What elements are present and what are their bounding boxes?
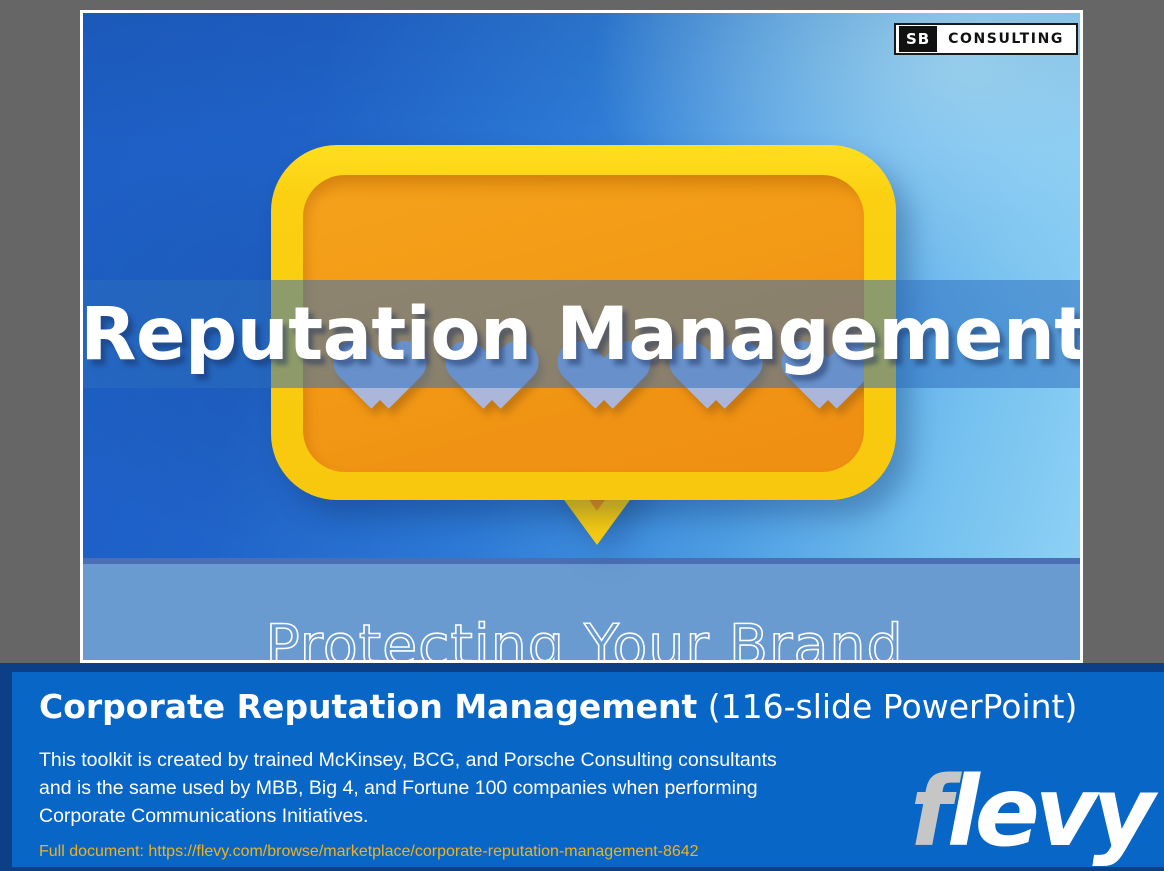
sb-consulting-logo: SB CONSULTING [894,23,1078,55]
banner-title: Corporate Reputation Management (116-sli… [39,686,1164,728]
screenshot-canvas: Reputation Management Protecting Your Br… [0,0,1164,871]
slide-preview[interactable]: Reputation Management Protecting Your Br… [80,10,1083,663]
flevy-banner: Corporate Reputation Management (116-sli… [0,663,1164,871]
slide-subtitle: Protecting Your Brand [83,613,1083,663]
slide-title: Reputation Management [83,280,1083,388]
sb-logo-wordmark: CONSULTING [948,31,1064,47]
flevy-logo-levy: levy [947,756,1150,868]
flevy-logo-f: f [910,756,947,868]
banner-title-main: Corporate Reputation Management [39,687,697,726]
slide-inner: Reputation Management Protecting Your Br… [83,13,1083,663]
flevy-logo[interactable]: flevy [910,764,1150,860]
banner-title-suffix: (116-slide PowerPoint) [708,687,1078,726]
sb-logo-mark: SB [899,26,937,52]
